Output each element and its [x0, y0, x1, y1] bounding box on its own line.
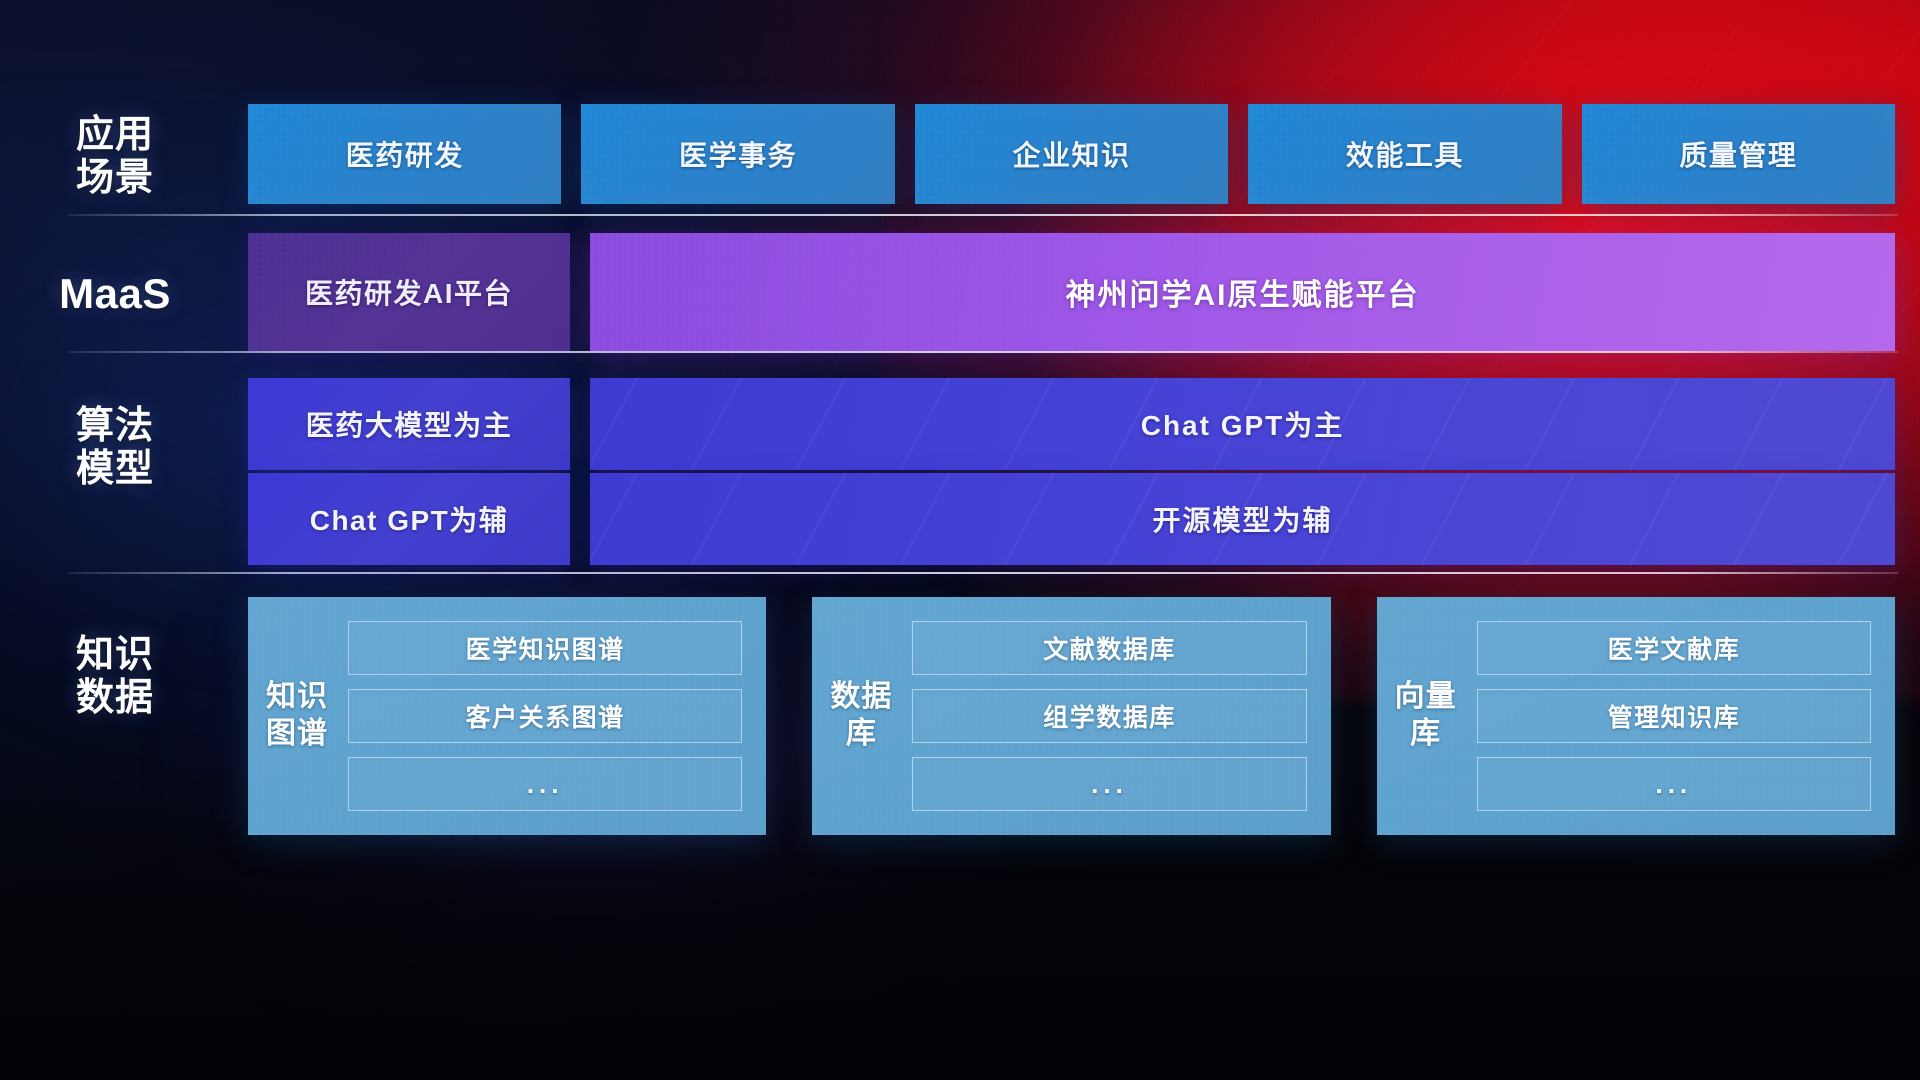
- app-card-quality-management[interactable]: 质量管理: [1582, 104, 1895, 204]
- knowledge-item-omics-database[interactable]: 组学数据库: [912, 689, 1306, 743]
- knowledge-group-vector-store[interactable]: 向量库 医学文献库 管理知识库 ...: [1377, 597, 1895, 835]
- knowledge-track: 知识图谱 医学知识图谱 客户关系图谱 ... 数据库 文献数据库 组学数据库 .…: [248, 597, 1895, 835]
- knowledge-item-more-knowledge-graph[interactable]: ...: [348, 757, 742, 811]
- algo-card-chatgpt-secondary[interactable]: Chat GPT为辅: [248, 473, 570, 565]
- app-card-medical-affairs[interactable]: 医学事务: [581, 104, 894, 204]
- divider-maas-algorithm: [68, 351, 1898, 353]
- knowledge-item-list-database: 文献数据库 组学数据库 ...: [904, 621, 1316, 811]
- knowledge-item-more-database[interactable]: ...: [912, 757, 1306, 811]
- maas-track: 医药研发AI平台 神州问学AI原生赋能平台: [248, 233, 1895, 351]
- knowledge-group-database[interactable]: 数据库 文献数据库 组学数据库 ...: [812, 597, 1330, 835]
- app-card-medicine-rd[interactable]: 医药研发: [248, 104, 561, 204]
- row-label-algorithm: 算法 模型: [30, 405, 200, 490]
- row-label-knowledge: 知识 数据: [30, 634, 200, 719]
- algo-card-pharma-llm-primary[interactable]: 医药大模型为主: [248, 378, 570, 470]
- row-label-maas: MaaS: [30, 270, 200, 317]
- knowledge-item-medical-literature-store[interactable]: 医学文献库: [1477, 621, 1871, 675]
- knowledge-item-literature-database[interactable]: 文献数据库: [912, 621, 1306, 675]
- maas-card-pharma-ai-platform[interactable]: 医药研发AI平台: [248, 233, 570, 351]
- app-card-enterprise-knowledge[interactable]: 企业知识: [915, 104, 1228, 204]
- knowledge-item-list-vector-store: 医学文献库 管理知识库 ...: [1469, 621, 1881, 811]
- algo-card-opensource-secondary[interactable]: 开源模型为辅: [590, 473, 1895, 565]
- knowledge-item-more-vector-store[interactable]: ...: [1477, 757, 1871, 811]
- knowledge-group-title-knowledge-graph: 知识图谱: [254, 679, 340, 752]
- divider-application-maas: [68, 214, 1898, 216]
- divider-algorithm-knowledge: [68, 572, 1898, 574]
- algorithm-track-secondary: Chat GPT为辅 开源模型为辅: [248, 473, 1895, 565]
- maas-card-shenzhou-wenxue-platform[interactable]: 神州问学AI原生赋能平台: [590, 233, 1895, 351]
- knowledge-item-medical-knowledge-graph[interactable]: 医学知识图谱: [348, 621, 742, 675]
- knowledge-item-list-knowledge-graph: 医学知识图谱 客户关系图谱 ...: [340, 621, 752, 811]
- knowledge-group-title-database: 数据库: [818, 679, 904, 752]
- knowledge-item-customer-relation-graph[interactable]: 客户关系图谱: [348, 689, 742, 743]
- slide-canvas: 应用 场景 医药研发 医学事务 企业知识 效能工具 质量管理 MaaS 医药研发…: [0, 0, 1920, 1080]
- algo-card-chatgpt-primary[interactable]: Chat GPT为主: [590, 378, 1895, 470]
- application-card-track: 医药研发 医学事务 企业知识 效能工具 质量管理: [248, 104, 1895, 204]
- architecture-diagram: 应用 场景 医药研发 医学事务 企业知识 效能工具 质量管理 MaaS 医药研发…: [0, 0, 1920, 1080]
- knowledge-item-management-knowledge-store[interactable]: 管理知识库: [1477, 689, 1871, 743]
- knowledge-group-title-vector-store: 向量库: [1383, 679, 1469, 752]
- row-label-application: 应用 场景: [30, 114, 200, 199]
- app-card-efficiency-tools[interactable]: 效能工具: [1248, 104, 1561, 204]
- knowledge-group-knowledge-graph[interactable]: 知识图谱 医学知识图谱 客户关系图谱 ...: [248, 597, 766, 835]
- algorithm-track-primary: 医药大模型为主 Chat GPT为主: [248, 378, 1895, 470]
